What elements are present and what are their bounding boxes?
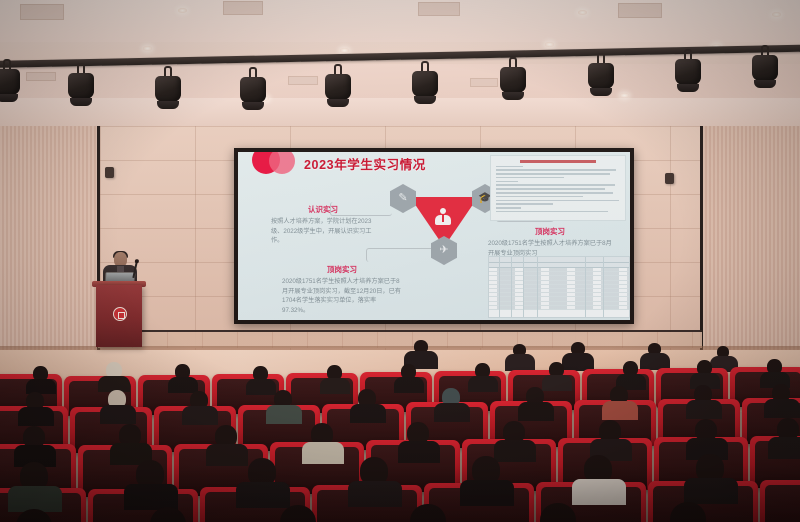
audience-member bbox=[616, 361, 646, 388]
wall-slat-right bbox=[700, 126, 800, 350]
block-body: 按照人才培养方案，学院计划在2023级、2022级学生中，开展认识实习工作。 bbox=[271, 217, 375, 246]
audience-member bbox=[18, 392, 54, 424]
stage-light-parcan bbox=[412, 68, 438, 102]
ceiling-downlight bbox=[143, 46, 152, 51]
stage-light-parcan bbox=[68, 70, 94, 104]
audience-member bbox=[690, 360, 720, 387]
ceiling-vent bbox=[26, 72, 56, 81]
audience-member bbox=[302, 423, 344, 461]
ceiling-downlight bbox=[340, 48, 349, 53]
wall-speaker-left bbox=[105, 167, 114, 178]
slide-title: 2023年学生实习情况 bbox=[304, 154, 426, 173]
audience-member bbox=[14, 426, 56, 464]
audience-member bbox=[266, 390, 302, 422]
audience bbox=[0, 344, 800, 522]
audience-member bbox=[350, 389, 386, 421]
block-heading: 认识实习 bbox=[271, 204, 375, 215]
audience-member bbox=[110, 424, 152, 462]
wall-speaker-right bbox=[665, 173, 674, 184]
ceiling-band-lower bbox=[0, 98, 800, 126]
ceiling-vent bbox=[618, 3, 662, 18]
stage-light-parcan bbox=[240, 74, 266, 108]
ceiling-vent bbox=[20, 4, 64, 20]
ceiling-downlight bbox=[578, 10, 587, 15]
audience-member bbox=[98, 362, 130, 390]
audience-member bbox=[764, 384, 800, 416]
block-heading: 顶岗实习 bbox=[488, 226, 612, 237]
block-heading: 顶岗实习 bbox=[282, 264, 402, 275]
audience-member bbox=[26, 366, 56, 392]
audience-member bbox=[686, 385, 722, 417]
audience-member bbox=[494, 421, 536, 459]
stage-light-parcan bbox=[155, 73, 181, 107]
ceiling-vent bbox=[418, 2, 460, 16]
spreadsheet-screenshot bbox=[488, 256, 630, 318]
audience-member bbox=[505, 344, 535, 370]
audience-member bbox=[686, 419, 728, 457]
center-graphic: ✎ 🎓 ✈ bbox=[388, 184, 500, 266]
auditorium-photo: 2023年学生实习情况 ✎ 🎓 ✈ 认识实习 按照人才培养方案，学院计划在202… bbox=[0, 0, 800, 522]
audience-member bbox=[320, 365, 350, 392]
block-body: 2020级1751名学生按照人才培养方案已于8月开展专业顶岗实习，截至12月20… bbox=[282, 277, 402, 315]
audience-member bbox=[434, 388, 470, 420]
stage-light-parcan bbox=[588, 60, 614, 94]
stage-light-parcan bbox=[0, 66, 20, 100]
audience-member bbox=[590, 420, 632, 458]
ceiling-downlight bbox=[545, 42, 554, 47]
slide-canvas: 2023年学生实习情况 ✎ 🎓 ✈ 认识实习 按照人才培养方案，学院计划在202… bbox=[238, 152, 630, 320]
audience-member bbox=[100, 390, 136, 422]
school-emblem bbox=[113, 307, 127, 321]
slide-logo bbox=[252, 152, 298, 176]
ceiling-downlight bbox=[620, 93, 629, 98]
ceiling-downlight bbox=[178, 8, 187, 13]
ceiling-vent bbox=[288, 76, 318, 85]
foreground-shadow bbox=[0, 464, 800, 522]
audience-member bbox=[246, 366, 276, 393]
projection-screen: 2023年学生实习情况 ✎ 🎓 ✈ 认识实习 按照人才培养方案，学院计划在202… bbox=[234, 148, 634, 324]
audience-member bbox=[602, 386, 638, 418]
audience-member bbox=[398, 422, 440, 460]
audience-member bbox=[468, 363, 498, 390]
slide-block-right: 顶岗实习 2020级1751名学生按照人才培养方案已于8月开展专业顶岗实习 bbox=[488, 226, 612, 258]
audience-member bbox=[542, 362, 572, 389]
audience-member bbox=[168, 364, 198, 391]
podium bbox=[96, 285, 142, 347]
ceiling-vent bbox=[223, 1, 263, 15]
audience-member bbox=[768, 418, 800, 456]
slide-block-bottom: 顶岗实习 2020级1751名学生按照人才培养方案已于8月开展专业顶岗实习，截至… bbox=[282, 264, 402, 315]
stage-light-parcan bbox=[500, 64, 526, 98]
audience-member bbox=[760, 359, 790, 386]
stage-light-parcan bbox=[325, 71, 351, 105]
person-icon bbox=[435, 208, 451, 226]
ceiling-band-upper bbox=[0, 0, 800, 42]
document-screenshot bbox=[490, 155, 626, 221]
ceiling-vent bbox=[470, 78, 498, 87]
audience-member bbox=[182, 391, 218, 423]
wall-slat-left bbox=[0, 126, 100, 350]
audience-member bbox=[518, 387, 554, 419]
ceiling-downlight bbox=[772, 12, 781, 17]
stage-light-parcan bbox=[675, 56, 701, 90]
slide-block-left: 认识实习 按照人才培养方案，学院计划在2023级、2022级学生中，开展认识实习… bbox=[271, 204, 375, 246]
audience-member bbox=[394, 364, 424, 391]
stage-light-parcan bbox=[752, 52, 778, 86]
